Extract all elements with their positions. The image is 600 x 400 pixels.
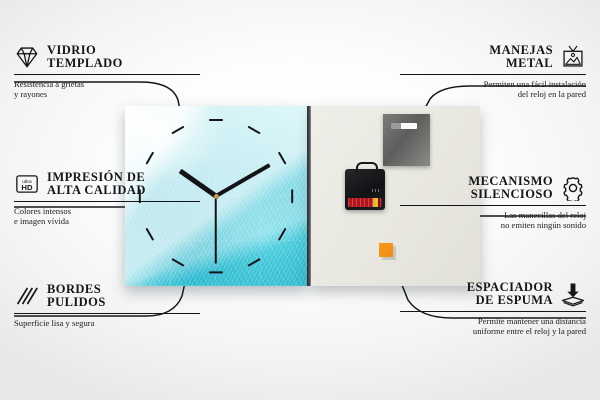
feature-header: ESPACIADOR DE ESPUMA xyxy=(400,281,586,308)
feature-bordes-pulidos: BORDES PULIDOS Superficie lisa y segura xyxy=(14,283,200,328)
hanger-slot xyxy=(391,123,417,129)
mechanism-hook xyxy=(356,162,378,173)
diamond-icon xyxy=(14,44,40,70)
clock-center-cap xyxy=(214,194,219,199)
feature-header: VIDRIO TEMPLADO xyxy=(14,44,200,71)
metal-hanger-plate xyxy=(383,114,430,166)
title-line-2: METAL xyxy=(489,57,553,70)
feature-title: MECANISMO SILENCIOSO xyxy=(468,175,553,202)
quartz-mechanism xyxy=(345,169,385,210)
title-line-1: MANEJAS xyxy=(489,44,553,57)
desc-line-2: e imagen vívida xyxy=(14,216,200,227)
mechanism-label xyxy=(372,189,381,192)
polished-edges-icon xyxy=(14,283,40,309)
title-line-1: MECANISMO xyxy=(468,175,553,188)
second-hand xyxy=(215,196,217,264)
feature-mecanismo-silencioso: MECANISMO SILENCIOSO Las manecillas del … xyxy=(400,175,586,231)
feature-title: MANEJAS METAL xyxy=(489,44,553,71)
icon-text-hd: HD xyxy=(21,184,33,193)
feature-description: Superficie lisa y segura xyxy=(14,318,200,329)
desc-line-2: del reloj en la pared xyxy=(400,89,586,100)
battery-stripes xyxy=(348,198,382,207)
divider xyxy=(400,205,586,206)
desc-line-1: Permite mantener una distancia xyxy=(400,316,586,327)
feature-title: VIDRIO TEMPLADO xyxy=(47,44,123,71)
title-line-1: VIDRIO xyxy=(47,44,123,57)
desc-line-2: y rayones xyxy=(14,89,200,100)
feature-title: ESPACIADOR DE ESPUMA xyxy=(467,281,553,308)
desc-line-1: Permiten una fácil instalación xyxy=(400,79,586,90)
divider xyxy=(400,74,586,75)
foam-spacer xyxy=(379,243,393,257)
arrow-down-stack-icon xyxy=(560,281,586,307)
title-line-2: DE ESPUMA xyxy=(467,294,553,307)
feature-vidrio-templado: VIDRIO TEMPLADO Resistencia a grietas y … xyxy=(14,44,200,100)
title-line-1: BORDES xyxy=(47,283,106,296)
desc-line-2: uniforme entre el reloj y la pared xyxy=(400,326,586,337)
ultra-hd-icon: ultra HD xyxy=(14,171,40,197)
hour-marker xyxy=(291,189,293,203)
desc-line-1: Superficie lisa y segura xyxy=(14,318,200,329)
title-line-1: IMPRESIÓN DE xyxy=(47,171,146,184)
divider xyxy=(14,313,200,314)
desc-line-1: Resistencia a grietas xyxy=(14,79,200,90)
title-line-2: PULIDOS xyxy=(47,296,106,309)
feature-description: Las manecillas del reloj no emiten ningú… xyxy=(400,210,586,231)
divider xyxy=(14,74,200,75)
feature-header: ultra HD IMPRESIÓN DE ALTA CALIDAD xyxy=(14,171,200,198)
desc-line-1: Las manecillas del reloj xyxy=(400,210,586,221)
feature-header: MECANISMO SILENCIOSO xyxy=(400,175,586,202)
feature-header: MANEJAS METAL xyxy=(400,44,586,71)
feature-impresion-alta-calidad: ultra HD IMPRESIÓN DE ALTA CALIDAD Color… xyxy=(14,171,200,227)
feature-espaciador-espuma: ESPACIADOR DE ESPUMA Permite mantener un… xyxy=(400,281,586,337)
feature-description: Colores intensos e imagen vívida xyxy=(14,206,200,227)
title-line-2: ALTA CALIDAD xyxy=(47,184,146,197)
feature-description: Resistencia a grietas y rayones xyxy=(14,79,200,100)
feature-header: BORDES PULIDOS xyxy=(14,283,200,310)
desc-line-1: Colores intensos xyxy=(14,206,200,217)
feature-description: Permite mantener una distancia uniforme … xyxy=(400,316,586,337)
feature-description: Permiten una fácil instalación del reloj… xyxy=(400,79,586,100)
title-line-2: SILENCIOSO xyxy=(468,188,553,201)
picture-hanger-icon xyxy=(560,44,586,70)
feature-title: IMPRESIÓN DE ALTA CALIDAD xyxy=(47,171,146,198)
divider xyxy=(14,201,200,202)
feature-manejas-metal: MANEJAS METAL Permiten una fácil instala… xyxy=(400,44,586,100)
desc-line-2: no emiten ningún sonido xyxy=(400,220,586,231)
infographic-canvas: VIDRIO TEMPLADO Resistencia a grietas y … xyxy=(0,0,600,400)
divider xyxy=(400,311,586,312)
gear-icon xyxy=(560,175,586,201)
title-line-2: TEMPLADO xyxy=(47,57,123,70)
title-line-1: ESPACIADOR xyxy=(467,281,553,294)
hour-marker xyxy=(209,271,223,273)
feature-title: BORDES PULIDOS xyxy=(47,283,106,310)
